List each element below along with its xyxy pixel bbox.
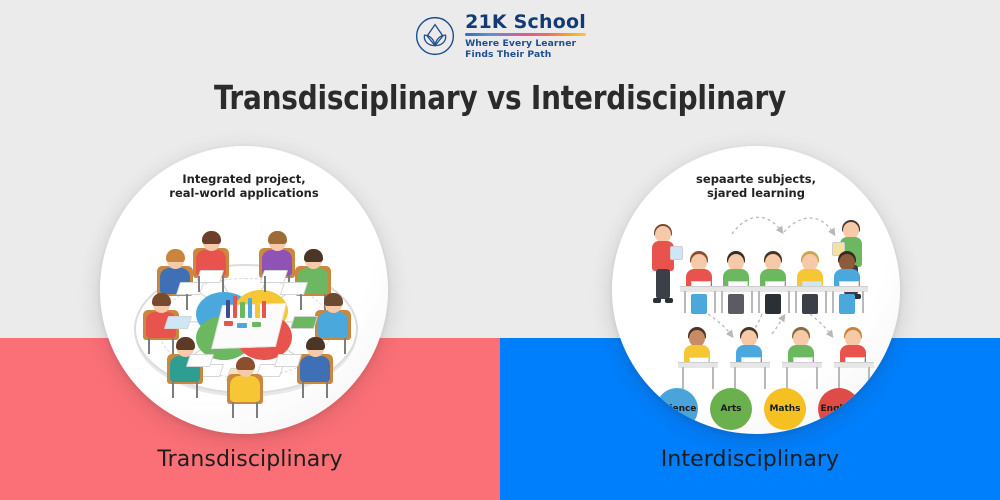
brand-logo-text: 21K School Where Every Learner Finds The…	[465, 12, 586, 60]
table-student	[134, 292, 188, 354]
subject-badge-arts[interactable]: Arts	[710, 388, 752, 430]
student-row2	[834, 324, 874, 398]
student-row2	[730, 324, 770, 398]
brand-tagline-line2: Finds Their Path	[465, 49, 586, 60]
caption-transdisciplinary: Integrated project, real-world applicati…	[100, 172, 388, 200]
student-row1	[717, 248, 757, 322]
students-around-round-table-icon	[100, 204, 388, 434]
page-title: Transdisciplinary vs Interdisciplinary	[30, 78, 970, 117]
infographic-canvas: 21K School Where Every Learner Finds The…	[0, 0, 1000, 500]
subject-label: Maths	[769, 404, 800, 414]
student-row2	[678, 324, 718, 398]
student-row1	[828, 248, 868, 322]
subject-label: Science	[658, 404, 697, 414]
label-transdisciplinary: Transdisciplinary	[0, 447, 500, 472]
brand-tagline-line1: Where Every Learner	[465, 38, 586, 49]
panel-interdisciplinary-circle: sepaarte subjects, sjared learning	[612, 146, 900, 434]
classroom-rows-with-teachers-icon: Science Arts Maths English	[612, 206, 900, 432]
student-row2	[782, 324, 822, 398]
panel-transdisciplinary-circle: Integrated project, real-world applicati…	[100, 146, 388, 434]
lotus-circle-icon	[414, 15, 456, 57]
table-student	[288, 336, 342, 398]
table-student	[184, 230, 238, 292]
student-row1	[754, 248, 794, 322]
subject-badge-science[interactable]: Science	[656, 388, 698, 430]
label-interdisciplinary: Interdisciplinary	[500, 447, 1000, 472]
subject-badge-english[interactable]: English	[818, 388, 860, 430]
table-student	[218, 356, 272, 418]
brand-logo[interactable]: 21K School Where Every Learner Finds The…	[0, 8, 1000, 64]
subject-label: Arts	[720, 404, 741, 414]
student-row1	[791, 248, 831, 322]
brand-name: 21K School	[465, 12, 586, 32]
brand-gradient-rule	[465, 33, 586, 36]
teacher-left	[646, 224, 680, 308]
caption-interdisciplinary: sepaarte subjects, sjared learning	[612, 172, 900, 200]
subject-badge-maths[interactable]: Maths	[764, 388, 806, 430]
student-row1	[680, 248, 720, 322]
subject-label: English	[821, 404, 858, 414]
